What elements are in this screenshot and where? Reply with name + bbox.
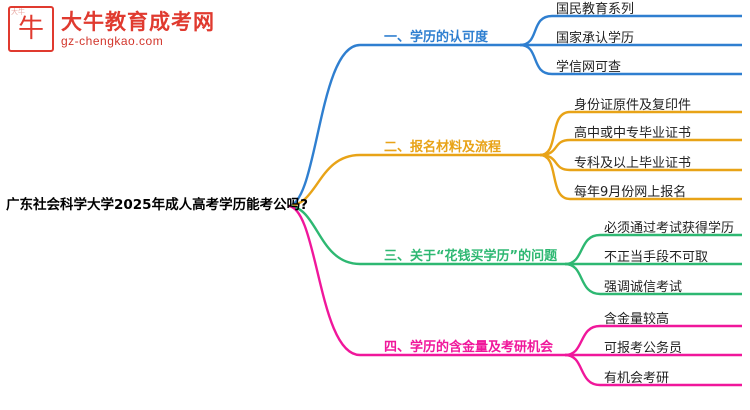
branch-2-child-4: 每年9月份网上报名 (574, 186, 686, 199)
branch-3-child-2: 不正当手段不可取 (604, 251, 708, 264)
mindmap-diagram: 广东社会科学大学2025年成人高考学历能考公吗? 一、学历的认可度 国民教育系列… (0, 0, 750, 410)
branch-2-child-1: 身份证原件及复印件 (574, 99, 691, 112)
branch-4-child-1: 含金量较高 (604, 313, 669, 326)
branch-1-child-2: 国家承认学历 (556, 32, 634, 45)
branch-4-label: 四、学历的含金量及考研机会 (384, 341, 553, 354)
branch-3-label: 三、关于“花钱买学历”的问题 (384, 250, 557, 263)
branch-1-child-1: 国民教育系列 (556, 3, 634, 16)
branch-2-label: 二、报名材料及流程 (384, 141, 501, 154)
branch-4-child-2: 可报考公务员 (604, 342, 682, 355)
branch-1-label: 一、学历的认可度 (384, 31, 488, 44)
branch-1-child-3: 学信网可查 (556, 61, 621, 74)
branch-2-child-3: 专科及以上毕业证书 (574, 157, 691, 170)
mindmap-root-label: 广东社会科学大学2025年成人高考学历能考公吗? (6, 199, 308, 213)
branch-3-child-1: 必须通过考试获得学历 (604, 222, 734, 235)
branch-4-child-3: 有机会考研 (604, 372, 669, 385)
branch-2-child-2: 高中或中专毕业证书 (574, 127, 691, 140)
branch-3-child-3: 强调诚信考试 (604, 281, 682, 294)
